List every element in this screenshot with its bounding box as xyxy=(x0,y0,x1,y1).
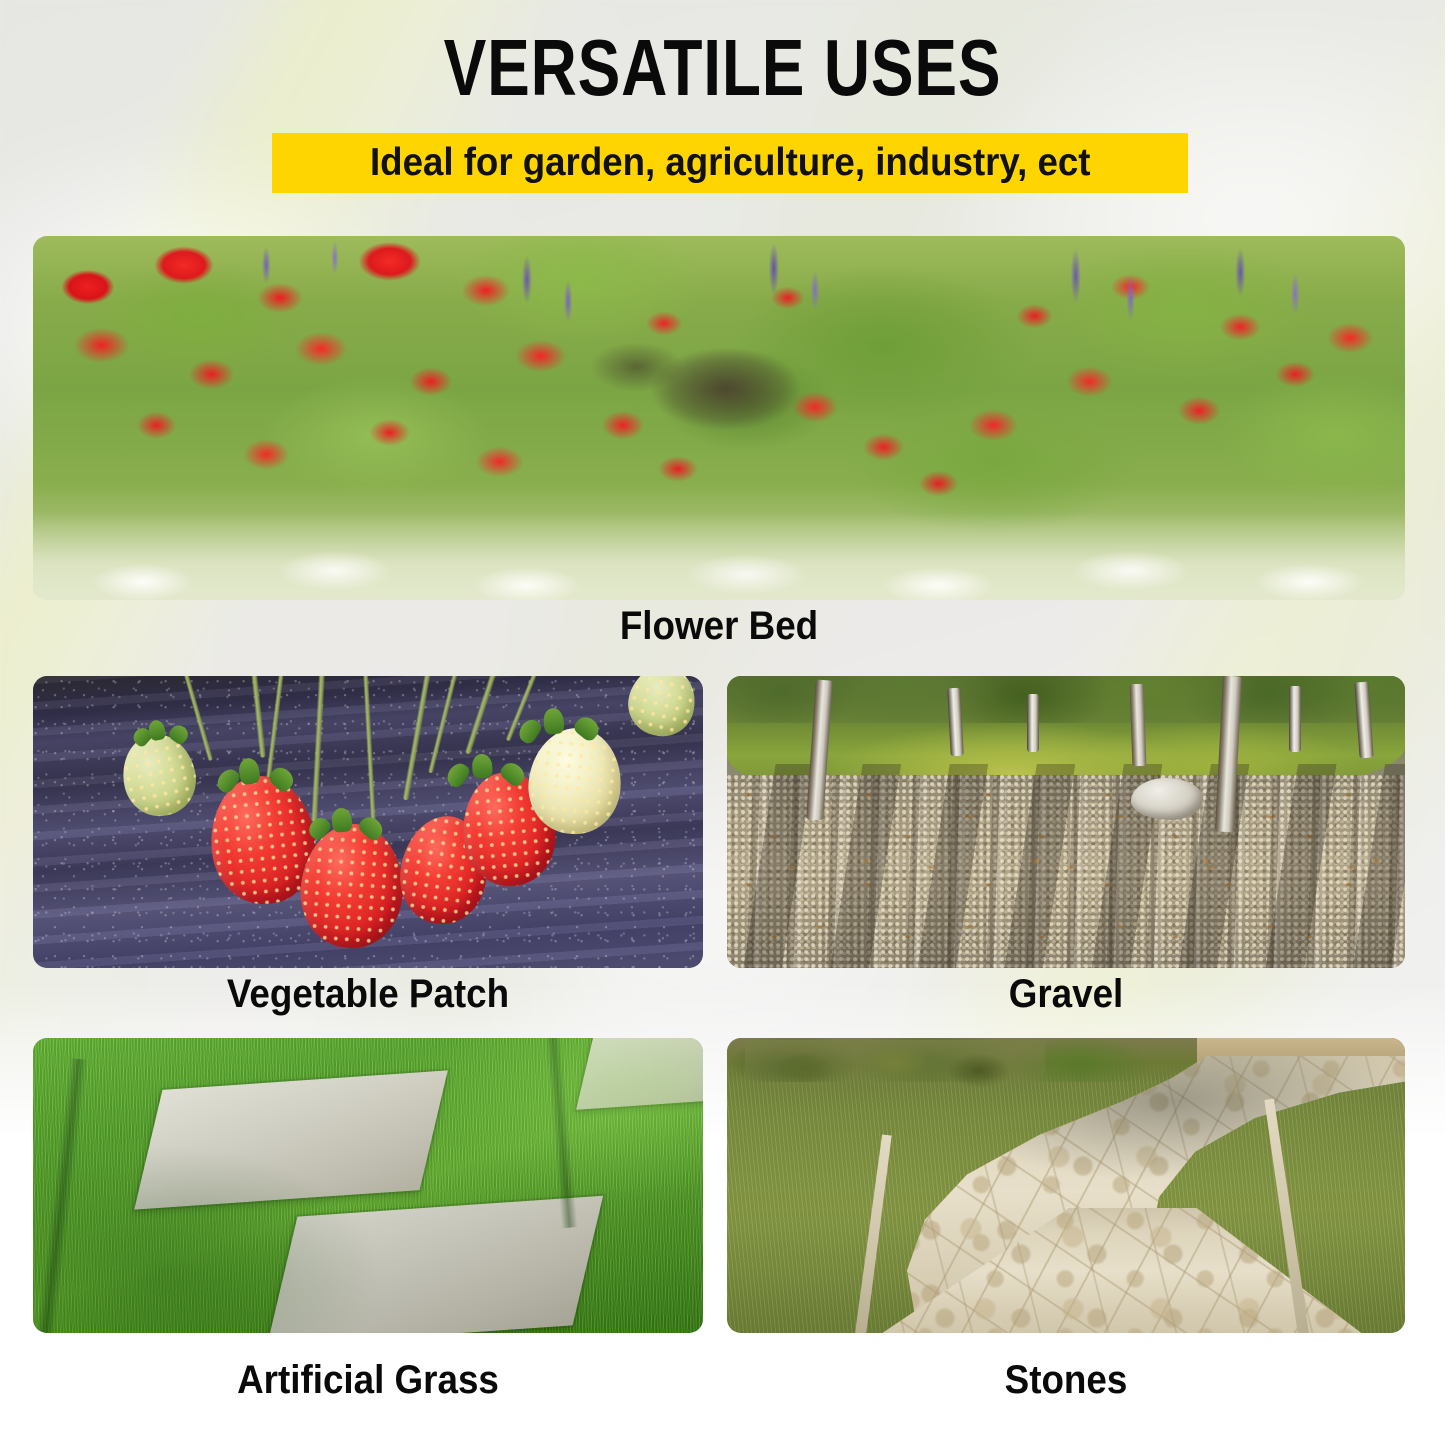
gravel-boulder xyxy=(1131,778,1203,820)
strawberry-calyx xyxy=(315,808,383,838)
strawberry-calyx xyxy=(525,708,597,740)
caption-artificial-grass: Artificial Grass xyxy=(60,1358,676,1402)
subtitle-text: Ideal for garden, agriculture, industry,… xyxy=(370,143,1090,183)
caption-vegetable-patch: Vegetable Patch xyxy=(60,972,676,1016)
gravel-fallen-leaves xyxy=(727,775,1405,968)
tree-trunk xyxy=(1289,686,1301,752)
tree-trunk xyxy=(1027,694,1039,752)
photo-flower-bed[interactable] xyxy=(33,236,1405,600)
strawberry-calyx xyxy=(223,758,293,790)
turf-shading xyxy=(33,1038,703,1333)
subtitle-banner: Ideal for garden, agriculture, industry,… xyxy=(272,133,1188,193)
flower-bed-white-alyssum xyxy=(33,236,1405,600)
stones-dry-scrub xyxy=(745,1040,1045,1096)
caption-gravel: Gravel xyxy=(754,972,1378,1016)
tree-trunk xyxy=(1130,684,1147,766)
photo-vegetable-patch[interactable] xyxy=(33,676,703,968)
strawberry-calyx xyxy=(137,718,187,744)
caption-flower-bed: Flower Bed xyxy=(88,604,1350,648)
photo-gravel[interactable] xyxy=(727,676,1405,968)
strawberry-calyx xyxy=(453,754,523,784)
photo-stones[interactable] xyxy=(727,1038,1405,1333)
photo-artificial-grass[interactable] xyxy=(33,1038,703,1333)
page-title: VERSATILE USES xyxy=(145,28,1301,108)
caption-stones: Stones xyxy=(754,1358,1378,1402)
